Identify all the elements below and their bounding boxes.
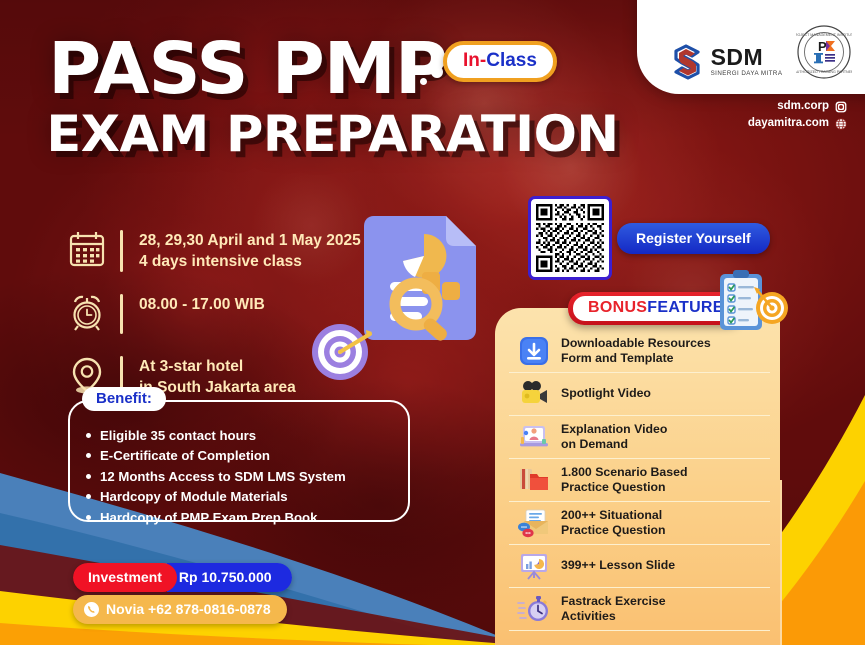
- sdm-s-glyph-icon: [670, 44, 704, 80]
- video-camera-icon: [517, 378, 551, 410]
- event-date-line1: 28, 29,30 April and 1 May 2025: [139, 231, 361, 252]
- bullet-icon: [86, 453, 91, 458]
- bonus-item-text: Fastrack Exercise Activities: [561, 594, 666, 625]
- handle-website-text: dayamitra.com: [748, 115, 829, 132]
- event-row-date: 28, 29,30 April and 1 May 2025 4 days in…: [66, 228, 396, 272]
- list-item: Eligible 35 contact hours: [86, 426, 408, 446]
- benefit-title: Benefit:: [82, 387, 166, 411]
- pmi-seal-icon: PROJECT MANAGEMENT INSTITUTE AUTHORIZED …: [796, 24, 852, 80]
- document-analysis-illustration: [358, 212, 482, 348]
- event-time-line1: 08.00 - 17.00 WIB: [139, 295, 265, 316]
- dartboard-target-illustration: [310, 318, 374, 382]
- bonus-item-text: Downloadable Resources Form and Template: [561, 336, 711, 367]
- bonus-item-line1: Spotlight Video: [561, 386, 651, 401]
- benefit-item-label: 12 Months Access to SDM LMS System: [100, 467, 346, 487]
- list-item: 200++ Situational Practice Question: [509, 502, 770, 545]
- bonus-item-line2: Practice Question: [561, 523, 666, 538]
- svg-text:AUTHORIZED TRAINING PARTNER: AUTHORIZED TRAINING PARTNER: [796, 70, 852, 74]
- globe-icon: [835, 118, 847, 130]
- bonus-item-line1: 399++ Lesson Slide: [561, 558, 675, 573]
- list-item: 399++ Lesson Slide: [509, 545, 770, 588]
- bonus-feature-panel: Downloadable Resources Form and Template…: [495, 308, 780, 645]
- bonus-feature-list: Downloadable Resources Form and Template…: [509, 330, 770, 631]
- list-item: 12 Months Access to SDM LMS System: [86, 467, 408, 487]
- sdm-logo: SDM SINERGI DAYA MITRA: [670, 44, 783, 80]
- benefit-item-label: E-Certificate of Completion: [100, 446, 270, 466]
- register-yourself-button[interactable]: Register Yourself: [617, 223, 770, 254]
- bonus-item-line1: Explanation Video: [561, 422, 667, 437]
- social-handles: sdm.corp dayamitra.com: [748, 98, 847, 133]
- bonus-item-line2: Activities: [561, 609, 666, 624]
- in-class-badge-part2: Class: [486, 50, 537, 71]
- contact-text: Novia +62 878-0816-0878: [106, 601, 271, 617]
- bonus-item-line1: Fastrack Exercise: [561, 594, 666, 609]
- bonus-item-line2: on Demand: [561, 437, 667, 452]
- envelope-chat-icon: [517, 507, 551, 539]
- divider: [120, 230, 123, 272]
- contact-pill[interactable]: Novia +62 878-0816-0878: [73, 595, 287, 624]
- handle-instagram-text: sdm.corp: [777, 98, 829, 115]
- investment-amount: Rp 10.750.000: [167, 563, 292, 592]
- divider: [120, 294, 123, 334]
- bonus-item-line1: 1.800 Scenario Based: [561, 465, 687, 480]
- sdm-tagline: SINERGI DAYA MITRA: [711, 71, 783, 77]
- stopwatch-icon: [517, 593, 551, 625]
- sdm-name: SDM: [711, 46, 783, 69]
- event-date-text: 28, 29,30 April and 1 May 2025 4 days in…: [139, 228, 361, 272]
- handle-website[interactable]: dayamitra.com: [748, 115, 847, 132]
- bonus-item-line1: Downloadable Resources: [561, 336, 711, 351]
- event-date-line2: 4 days intensive class: [139, 252, 361, 273]
- download-icon: [517, 335, 551, 367]
- bonus-item-text: Spotlight Video: [561, 386, 651, 401]
- handle-instagram[interactable]: sdm.corp: [748, 98, 847, 115]
- event-location-line1: At 3-star hotel: [139, 357, 296, 378]
- list-item: Hardcopy of Module Materials: [86, 487, 408, 507]
- investment-pill: Investment Rp 10.750.000: [73, 563, 292, 592]
- in-class-badge: In-Class: [443, 41, 557, 82]
- phone-icon: [84, 602, 99, 617]
- bullet-icon: [86, 474, 91, 479]
- registration-qr-code[interactable]: [528, 196, 612, 280]
- investment-label: Investment: [73, 563, 177, 592]
- page-subtitle: EXAM PREPARATION: [46, 109, 618, 159]
- bonus-item-line2: Practice Question: [561, 480, 687, 495]
- benefit-list: Eligible 35 contact hours E-Certificate …: [86, 426, 408, 528]
- poster-root: SDM SINERGI DAYA MITRA PROJECT MANAGEMEN…: [0, 0, 865, 645]
- instagram-icon: [835, 101, 847, 113]
- laptop-presenter-icon: [517, 421, 551, 453]
- bonus-item-text: Explanation Video on Demand: [561, 422, 667, 453]
- bonus-item-text: 200++ Situational Practice Question: [561, 508, 666, 539]
- in-class-badge-part1: In-: [463, 50, 486, 71]
- calendar-icon: [66, 228, 108, 270]
- svg-text:P: P: [818, 39, 827, 54]
- brand-logo-card: SDM SINERGI DAYA MITRA PROJECT MANAGEMEN…: [637, 0, 865, 94]
- benefit-item-label: Hardcopy of PMP Exam Prep Book: [100, 508, 317, 528]
- list-item: Fastrack Exercise Activities: [509, 588, 770, 631]
- bonus-item-line2: Form and Template: [561, 351, 711, 366]
- benefit-item-label: Eligible 35 contact hours: [100, 426, 256, 446]
- alarm-clock-icon: [66, 292, 108, 334]
- bonus-item-line1: 200++ Situational: [561, 508, 666, 523]
- list-item: 1.800 Scenario Based Practice Question: [509, 459, 770, 502]
- bullet-icon: [86, 433, 91, 438]
- bonus-title-part1: BONUS: [588, 299, 647, 316]
- presentation-board-icon: [517, 550, 551, 582]
- benefit-item-label: Hardcopy of Module Materials: [100, 487, 288, 507]
- bullet-icon: [86, 515, 91, 520]
- svg-text:PROJECT MANAGEMENT INSTITUTE: PROJECT MANAGEMENT INSTITUTE: [796, 33, 852, 37]
- checklist-clipboard-illustration: [712, 268, 790, 344]
- list-item: Explanation Video on Demand: [509, 416, 770, 459]
- list-item: E-Certificate of Completion: [86, 446, 408, 466]
- bullet-icon: [86, 494, 91, 499]
- list-item: Spotlight Video: [509, 373, 770, 416]
- event-time-text: 08.00 - 17.00 WIB: [139, 292, 265, 316]
- benefit-box: Benefit: Eligible 35 contact hours E-Cer…: [68, 400, 410, 522]
- bonus-item-text: 1.800 Scenario Based Practice Question: [561, 465, 687, 496]
- bonus-item-text: 399++ Lesson Slide: [561, 558, 675, 573]
- qr-code-image: [536, 204, 604, 272]
- page-title: PASS PMP: [48, 36, 447, 101]
- folder-stack-icon: [517, 464, 551, 496]
- list-item: Hardcopy of PMP Exam Prep Book: [86, 508, 408, 528]
